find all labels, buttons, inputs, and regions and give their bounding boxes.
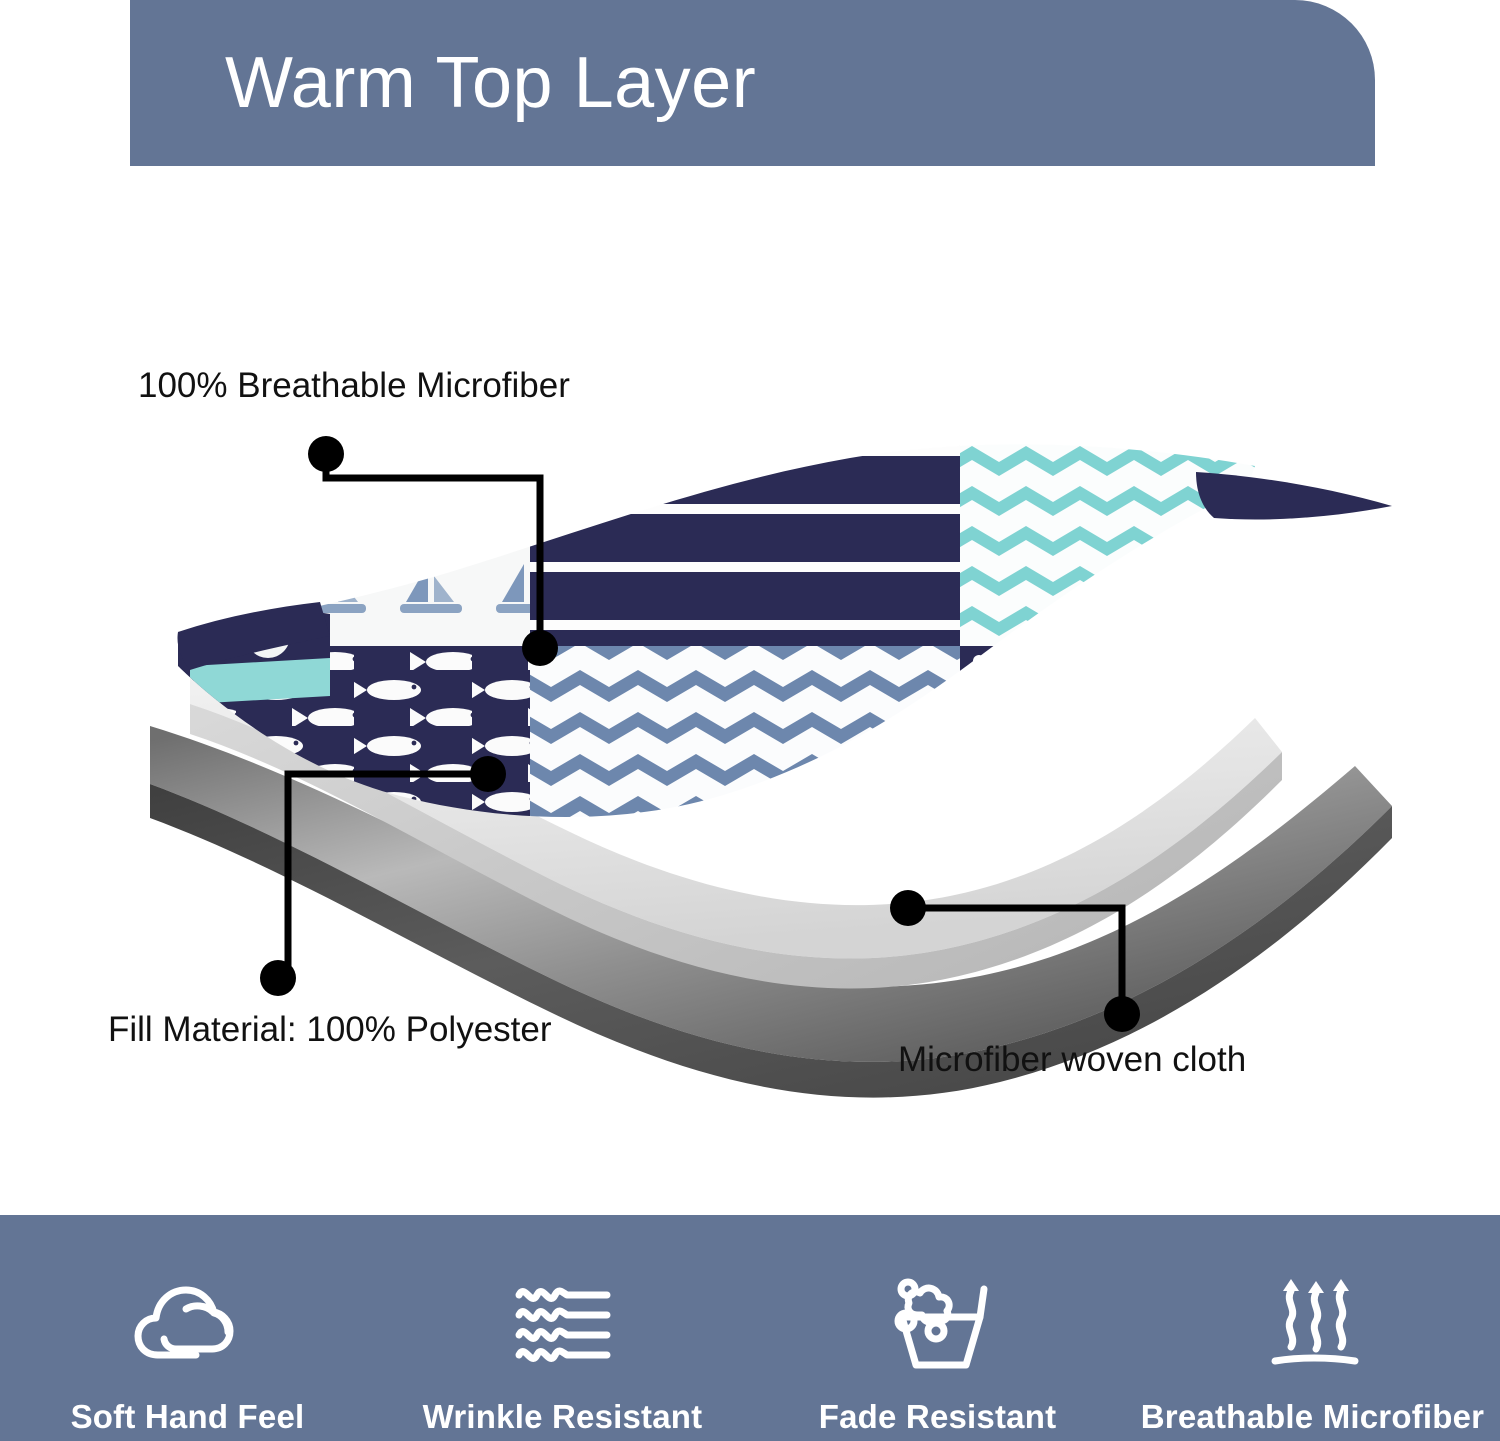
callout-dot-fill-target <box>470 756 506 792</box>
feature-bar: Soft Hand Feel Wrinkle Resistant Fade Re <box>0 1215 1500 1441</box>
page-title: Warm Top Layer <box>225 47 756 119</box>
cloud-icon <box>134 1266 242 1384</box>
wash-basin-bubbles-icon <box>884 1266 992 1384</box>
callout-label-bottom-layer: Microfiber woven cloth <box>898 1042 1246 1077</box>
rising-air-arrows-icon <box>1261 1266 1365 1384</box>
header-banner: Warm Top Layer <box>130 0 1375 166</box>
callout-dot-fill-label <box>260 960 296 996</box>
callout-dot-cloth-target <box>890 890 926 926</box>
feature-item-breathable-microfiber: Breathable Microfiber <box>1125 1207 1500 1441</box>
callout-dot-top-target <box>522 630 558 666</box>
wavy-lines-icon <box>513 1266 613 1384</box>
feature-item-wrinkle-resistant: Wrinkle Resistant <box>375 1207 750 1441</box>
feature-label-soft-hand-feel: Soft Hand Feel <box>71 1400 305 1433</box>
feature-label-breathable-microfiber: Breathable Microfiber <box>1141 1400 1484 1433</box>
product-layers-illustration <box>0 166 1500 1216</box>
feature-item-soft-hand-feel: Soft Hand Feel <box>0 1207 375 1441</box>
feature-item-fade-resistant: Fade Resistant <box>750 1207 1125 1441</box>
callout-dot-cloth-label <box>1104 996 1140 1032</box>
feature-label-wrinkle-resistant: Wrinkle Resistant <box>423 1400 703 1433</box>
callout-label-top-layer: 100% Breathable Microfiber <box>138 368 570 403</box>
callout-label-fill-material: Fill Material: 100% Polyester <box>108 1012 552 1047</box>
feature-label-fade-resistant: Fade Resistant <box>819 1400 1057 1433</box>
callout-dot-top-label <box>308 436 344 472</box>
